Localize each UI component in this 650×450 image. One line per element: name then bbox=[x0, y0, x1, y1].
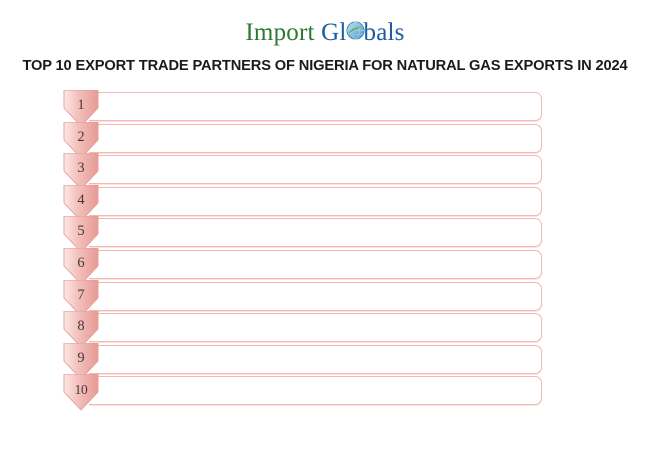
label-box bbox=[89, 218, 542, 247]
globe-icon bbox=[346, 21, 365, 40]
brand-word-glob: Gl bbox=[321, 19, 346, 46]
list-item[interactable]: 10 •Germany – 1 billion US dollars bbox=[62, 374, 542, 406]
label-box bbox=[89, 124, 542, 153]
list-item[interactable]: 4 •France – 7 billion US dollars bbox=[62, 185, 542, 217]
brand-word-bals: bals bbox=[364, 19, 405, 46]
list-item[interactable]: 8 •United Kingdom 1.4 billion US dollars bbox=[62, 311, 542, 343]
label-box bbox=[89, 282, 542, 311]
list-item[interactable]: 5 •China – 6 billion US dollars bbox=[62, 216, 542, 248]
list-item[interactable]: 1 •India – 19 billion US dollars bbox=[62, 90, 542, 122]
label-box bbox=[89, 250, 542, 279]
ranked-list: 1 •India – 19 billion US dollars 2 •Spai… bbox=[62, 90, 542, 406]
label-box bbox=[89, 345, 542, 374]
label-box bbox=[89, 92, 542, 121]
list-item[interactable]: 6 •Brazil – 4 billion US dollars bbox=[62, 248, 542, 280]
list-item[interactable]: 9 •Italy – 1.2 billion US dollars bbox=[62, 343, 542, 375]
brand-logo: Import Gl bals bbox=[0, 0, 650, 48]
list-item[interactable]: 7 •Netherlands – 2.5 billion US dollars bbox=[62, 280, 542, 312]
brand-word-import: Import bbox=[245, 19, 314, 46]
label-box bbox=[89, 376, 542, 405]
list-item[interactable]: 3 •Turkey –9 billion US dollars bbox=[62, 153, 542, 185]
label-box bbox=[89, 313, 542, 342]
infographic-page: { "brand": { "word1": "Import", "word2_p… bbox=[0, 0, 650, 450]
label-box bbox=[89, 187, 542, 216]
list-item[interactable]: 2 •Spain – 17 billion US dollars bbox=[62, 122, 542, 154]
rank-chevron-icon bbox=[62, 374, 100, 416]
label-box bbox=[89, 155, 542, 184]
page-title: TOP 10 EXPORT TRADE PARTNERS OF NIGERIA … bbox=[11, 57, 638, 74]
